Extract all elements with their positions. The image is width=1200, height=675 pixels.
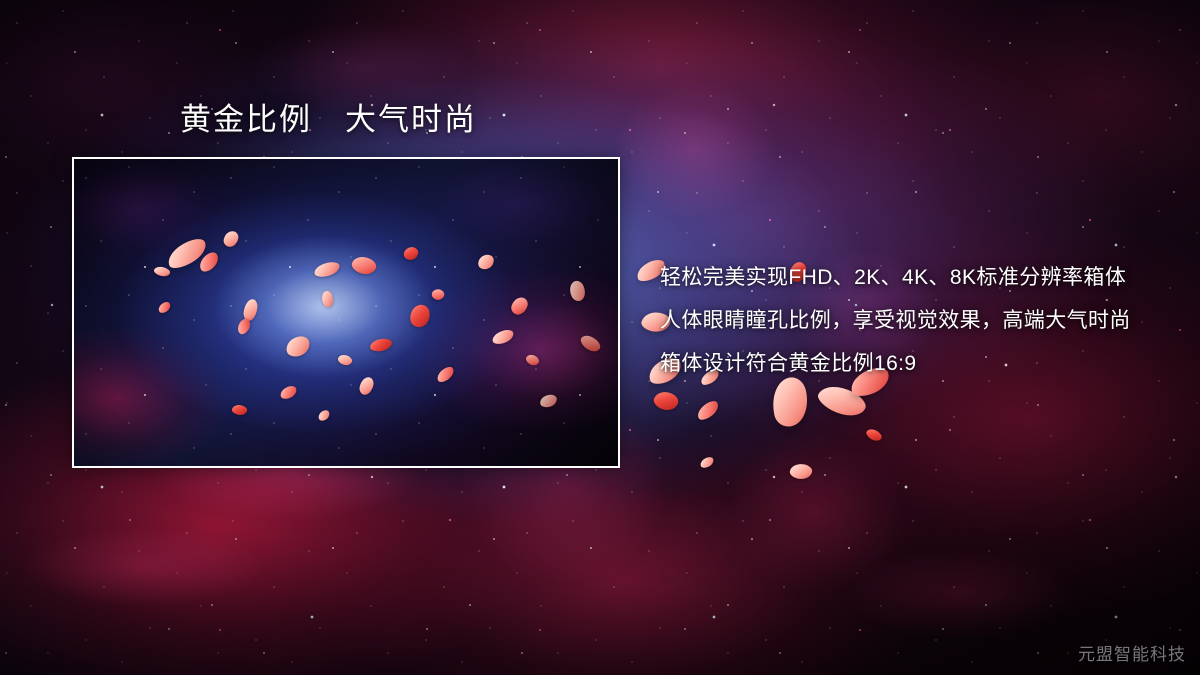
petal-icon (694, 398, 721, 422)
body-line-2: 人体眼睛瞳孔比例，享受视觉效果，高端大气时尚 (660, 299, 1180, 342)
presentation-slide: 黄金比例 大气时尚 (0, 0, 1200, 675)
petal-icon (815, 378, 870, 423)
body-line-1: 轻松完美实现FHD、2K、4K、8K标准分辨率箱体 (660, 256, 1180, 299)
petal-icon (652, 388, 681, 414)
company-watermark: 元盟智能科技 (1078, 640, 1186, 665)
body-text-block: 轻松完美实现FHD、2K、4K、8K标准分辨率箱体 人体眼睛瞳孔比例，享受视觉效… (660, 256, 1180, 385)
petal-icon (699, 456, 715, 470)
photo-vignette (74, 159, 618, 466)
petal-icon (865, 426, 884, 443)
petal-icon (789, 462, 813, 481)
body-line-3: 箱体设计符合黄金比例16:9 (660, 342, 1180, 385)
page-title: 黄金比例 大气时尚 (180, 100, 477, 140)
framed-photo-panel (72, 157, 620, 468)
